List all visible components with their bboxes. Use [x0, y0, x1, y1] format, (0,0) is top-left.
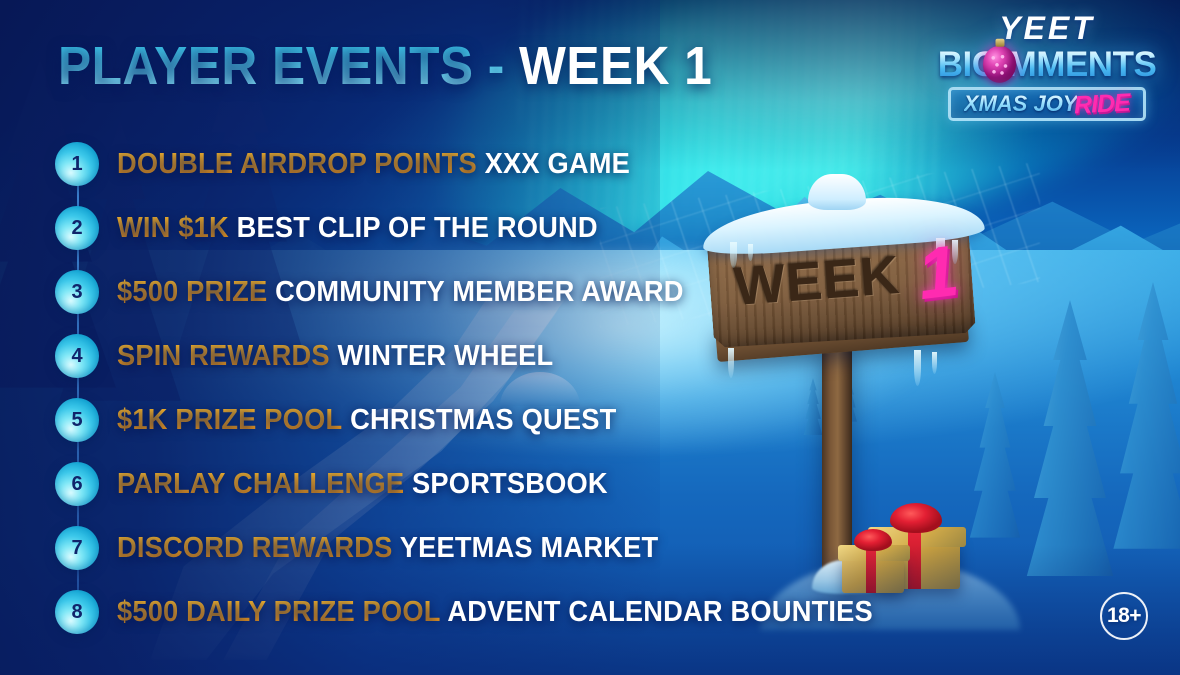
event-text: DISCORD REWARDS YEETMAS MARKET — [117, 532, 658, 565]
event-text: SPIN REWARDS WINTER WHEEL — [117, 340, 553, 373]
age-rating-badge: 18+ — [1100, 592, 1148, 640]
event-highlight: $1K PRIZE POOL — [117, 404, 342, 436]
event-highlight: $500 PRIZE — [117, 276, 267, 308]
big-moments-suffix: MENTS — [1036, 45, 1156, 84]
brand-subtitle-banner: XMAS JOY RIDE — [948, 87, 1146, 121]
event-highlight: DOUBLE AIRDROP POINTS — [117, 148, 477, 180]
event-number-badge: 1 — [55, 142, 99, 186]
list-item[interactable]: 2 WIN $1K BEST CLIP OF THE ROUND — [55, 196, 815, 260]
page-title-primary: PLAYER EVENTS - — [58, 36, 519, 96]
event-number-badge: 6 — [55, 462, 99, 506]
brand-xmas-joy-text: XMAS JOY — [964, 91, 1078, 117]
page-title: PLAYER EVENTS - WEEK 1 — [58, 35, 712, 97]
event-highlight: PARLAY CHALLENGE — [117, 468, 404, 500]
event-detail: XXX GAME — [477, 148, 630, 180]
brand-logo[interactable]: YEET BIG MMENTS XMAS JOY RIDE — [928, 12, 1166, 140]
list-item[interactable]: 4 SPIN REWARDS WINTER WHEEL — [55, 324, 815, 388]
event-detail: BEST CLIP OF THE ROUND — [229, 212, 598, 244]
event-detail: COMMUNITY MEMBER AWARD — [267, 276, 683, 308]
event-detail: YEETMAS MARKET — [392, 532, 658, 564]
list-item[interactable]: 7 DISCORD REWARDS YEETMAS MARKET — [55, 516, 815, 580]
event-number-badge: 2 — [55, 206, 99, 250]
event-text: $500 DAILY PRIZE POOL ADVENT CALENDAR BO… — [117, 596, 873, 629]
event-number-badge: 3 — [55, 270, 99, 314]
event-detail: WINTER WHEEL — [330, 340, 554, 372]
event-number-badge: 5 — [55, 398, 99, 442]
list-item[interactable]: 1 DOUBLE AIRDROP POINTS XXX GAME — [55, 132, 815, 196]
event-text: DOUBLE AIRDROP POINTS XXX GAME — [117, 148, 630, 181]
brand-yeet-wordmark: YEET — [928, 12, 1166, 44]
event-text: $500 PRIZE COMMUNITY MEMBER AWARD — [117, 276, 684, 309]
brand-big-moments-wordmark: BIG MMENTS — [928, 47, 1166, 82]
event-number-badge: 8 — [55, 590, 99, 634]
list-item[interactable]: 3 $500 PRIZE COMMUNITY MEMBER AWARD — [55, 260, 815, 324]
event-number-badge: 4 — [55, 334, 99, 378]
brand-ride-text: RIDE — [1074, 88, 1131, 120]
events-list: 1 DOUBLE AIRDROP POINTS XXX GAME 2 WIN $… — [55, 132, 815, 644]
event-highlight: WIN $1K — [117, 212, 229, 244]
list-item[interactable]: 6 PARLAY CHALLENGE SPORTSBOOK — [55, 452, 815, 516]
promo-poster: WEEK 1 PLAYER EVENTS - WEEK 1 1 DOUBLE A… — [0, 0, 1180, 675]
list-item[interactable]: 8 $500 DAILY PRIZE POOL ADVENT CALENDAR … — [55, 580, 815, 644]
event-text: PARLAY CHALLENGE SPORTSBOOK — [117, 468, 608, 501]
event-number-badge: 7 — [55, 526, 99, 570]
event-highlight: DISCORD REWARDS — [117, 532, 392, 564]
list-item[interactable]: 5 $1K PRIZE POOL CHRISTMAS QUEST — [55, 388, 815, 452]
poster-content: PLAYER EVENTS - WEEK 1 1 DOUBLE AIRDROP … — [0, 0, 1180, 675]
event-detail: SPORTSBOOK — [404, 468, 608, 500]
event-detail: ADVENT CALENDAR BOUNTIES — [441, 596, 873, 628]
event-highlight: $500 DAILY PRIZE POOL — [117, 596, 441, 628]
christmas-ornament-icon — [983, 45, 1016, 82]
event-text: $1K PRIZE POOL CHRISTMAS QUEST — [117, 404, 616, 437]
page-title-week: WEEK 1 — [519, 36, 712, 96]
event-detail: CHRISTMAS QUEST — [342, 404, 616, 436]
event-text: WIN $1K BEST CLIP OF THE ROUND — [117, 212, 598, 245]
event-highlight: SPIN REWARDS — [117, 340, 330, 372]
